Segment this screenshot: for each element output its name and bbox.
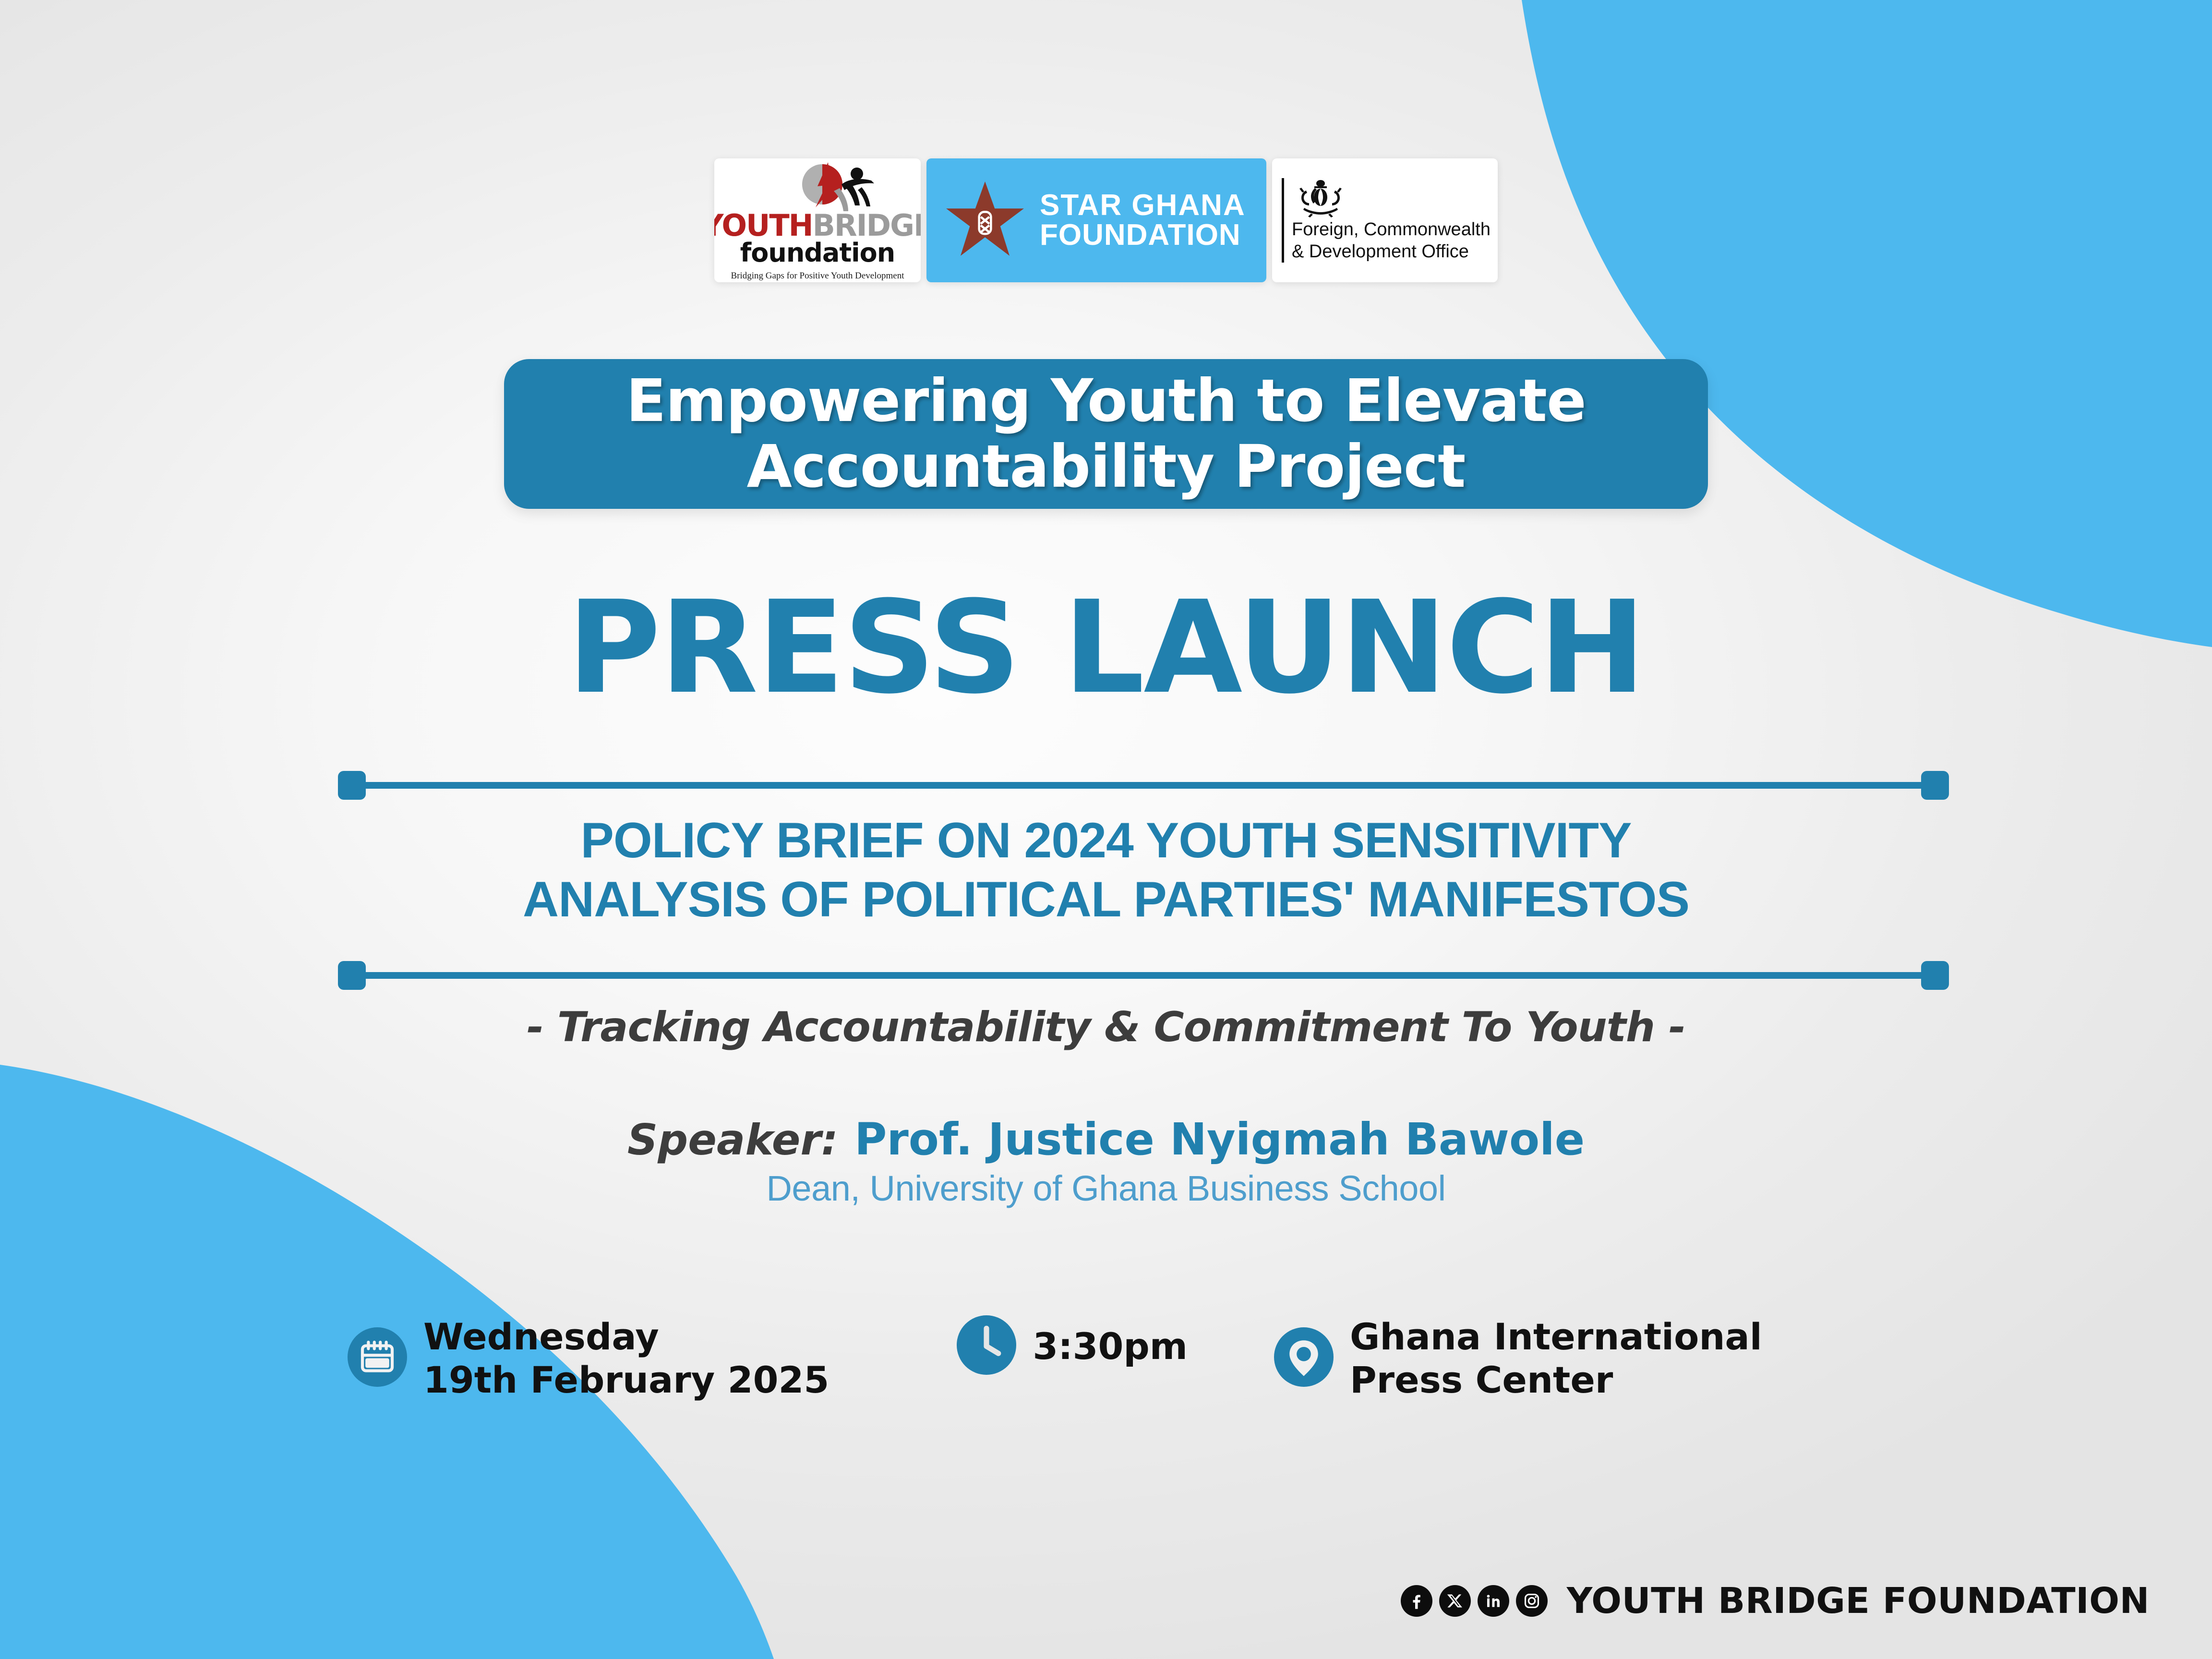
event-details-row: Wednesday 19th February 2025 3:30pm	[348, 1315, 1762, 1401]
poster-canvas: YOUTHBRIDGE foundation Bridging Gaps for…	[0, 0, 2212, 1659]
event-venue-item: Ghana International Press Center	[1274, 1315, 1762, 1401]
subtitle-text: POLICY BRIEF ON 2024 YOUTH SENSITIVITY A…	[0, 811, 2212, 929]
divider-bottom	[345, 972, 1942, 979]
ybf-tagline: Bridging Gaps for Positive Youth Develop…	[731, 271, 904, 281]
speaker-label: Speaker:	[627, 1115, 838, 1165]
location-pin-icon	[1274, 1327, 1334, 1389]
youth-bridge-emblem	[725, 159, 910, 216]
logo-youth-bridge-foundation: YOUTHBRIDGE foundation Bridging Gaps for…	[714, 158, 921, 282]
top-right-wave	[1522, 0, 2212, 647]
linkedin-icon[interactable]	[1478, 1585, 1509, 1617]
partner-logo-bar: YOUTHBRIDGE foundation Bridging Gaps for…	[714, 158, 1498, 282]
x-twitter-icon[interactable]	[1439, 1585, 1471, 1617]
instagram-icon[interactable]	[1516, 1585, 1548, 1617]
fcdo-vertical-rule	[1282, 178, 1284, 263]
speaker-role: Dean, University of Ghana Business Schoo…	[0, 1168, 2212, 1209]
tagline-text: - Tracking Accountability & Commitment T…	[0, 1003, 2212, 1051]
sgf-line2: FOUNDATION	[1040, 220, 1246, 250]
divider-bottom-cap-right	[1921, 961, 1949, 990]
logo-fcdo: Foreign, Commonwealth & Development Offi…	[1272, 158, 1498, 282]
event-venue-line2: Press Center	[1350, 1358, 1762, 1402]
project-title-line1: Empowering Youth to Elevate	[626, 368, 1586, 434]
calendar-icon	[348, 1327, 407, 1389]
divider-bottom-cap-left	[338, 961, 366, 990]
social-icons-group	[1401, 1585, 1548, 1617]
event-date-line2: 19th February 2025	[423, 1358, 829, 1402]
event-time-text: 3:30pm	[1033, 1325, 1188, 1368]
fcdo-line1: Foreign, Commonwealth	[1292, 218, 1491, 240]
speaker-name: Prof. Justice Nyigmah Bawole	[854, 1114, 1585, 1165]
divider-top-cap-left	[338, 771, 366, 800]
royal-crest-icon	[1292, 178, 1349, 218]
footer-bar: YOUTH BRIDGE FOUNDATION	[1401, 1580, 2150, 1622]
project-title-banner: Empowering Youth to Elevate Accountabili…	[504, 359, 1708, 509]
facebook-icon[interactable]	[1401, 1585, 1432, 1617]
fcdo-line2: & Development Office	[1292, 240, 1491, 263]
project-title-text: Empowering Youth to Elevate Accountabili…	[626, 368, 1586, 499]
divider-top-cap-right	[1921, 771, 1949, 800]
page-title: PRESS LAUNCH	[0, 584, 2212, 711]
subtitle-line2: ANALYSIS OF POLITICAL PARTIES' MANIFESTO…	[0, 870, 2212, 929]
footer-organization-name: YOUTH BRIDGE FOUNDATION	[1567, 1580, 2150, 1622]
speaker-block: Speaker: Prof. Justice Nyigmah Bawole De…	[0, 1114, 2212, 1209]
star-ghana-star-icon	[943, 178, 1027, 263]
event-venue-text: Ghana International Press Center	[1350, 1315, 1762, 1401]
event-time-item: 3:30pm	[957, 1315, 1188, 1377]
youth-bridge-wordmark: YOUTHBRIDGE	[714, 212, 921, 239]
event-date-item: Wednesday 19th February 2025	[348, 1315, 829, 1401]
event-venue-line1: Ghana International	[1350, 1315, 1762, 1358]
ybf-foundation-word: foundation	[740, 240, 895, 266]
event-date-text: Wednesday 19th February 2025	[423, 1315, 829, 1401]
clock-icon	[957, 1315, 1016, 1377]
event-date-line1: Wednesday	[423, 1315, 829, 1358]
logo-star-ghana-foundation: STAR GHANA FOUNDATION	[926, 158, 1266, 282]
star-ghana-wordmark: STAR GHANA FOUNDATION	[1040, 191, 1246, 250]
divider-top	[345, 782, 1942, 789]
subtitle-line1: POLICY BRIEF ON 2024 YOUTH SENSITIVITY	[0, 811, 2212, 870]
sgf-line1: STAR GHANA	[1040, 191, 1246, 220]
project-title-line2: Accountability Project	[626, 434, 1586, 500]
